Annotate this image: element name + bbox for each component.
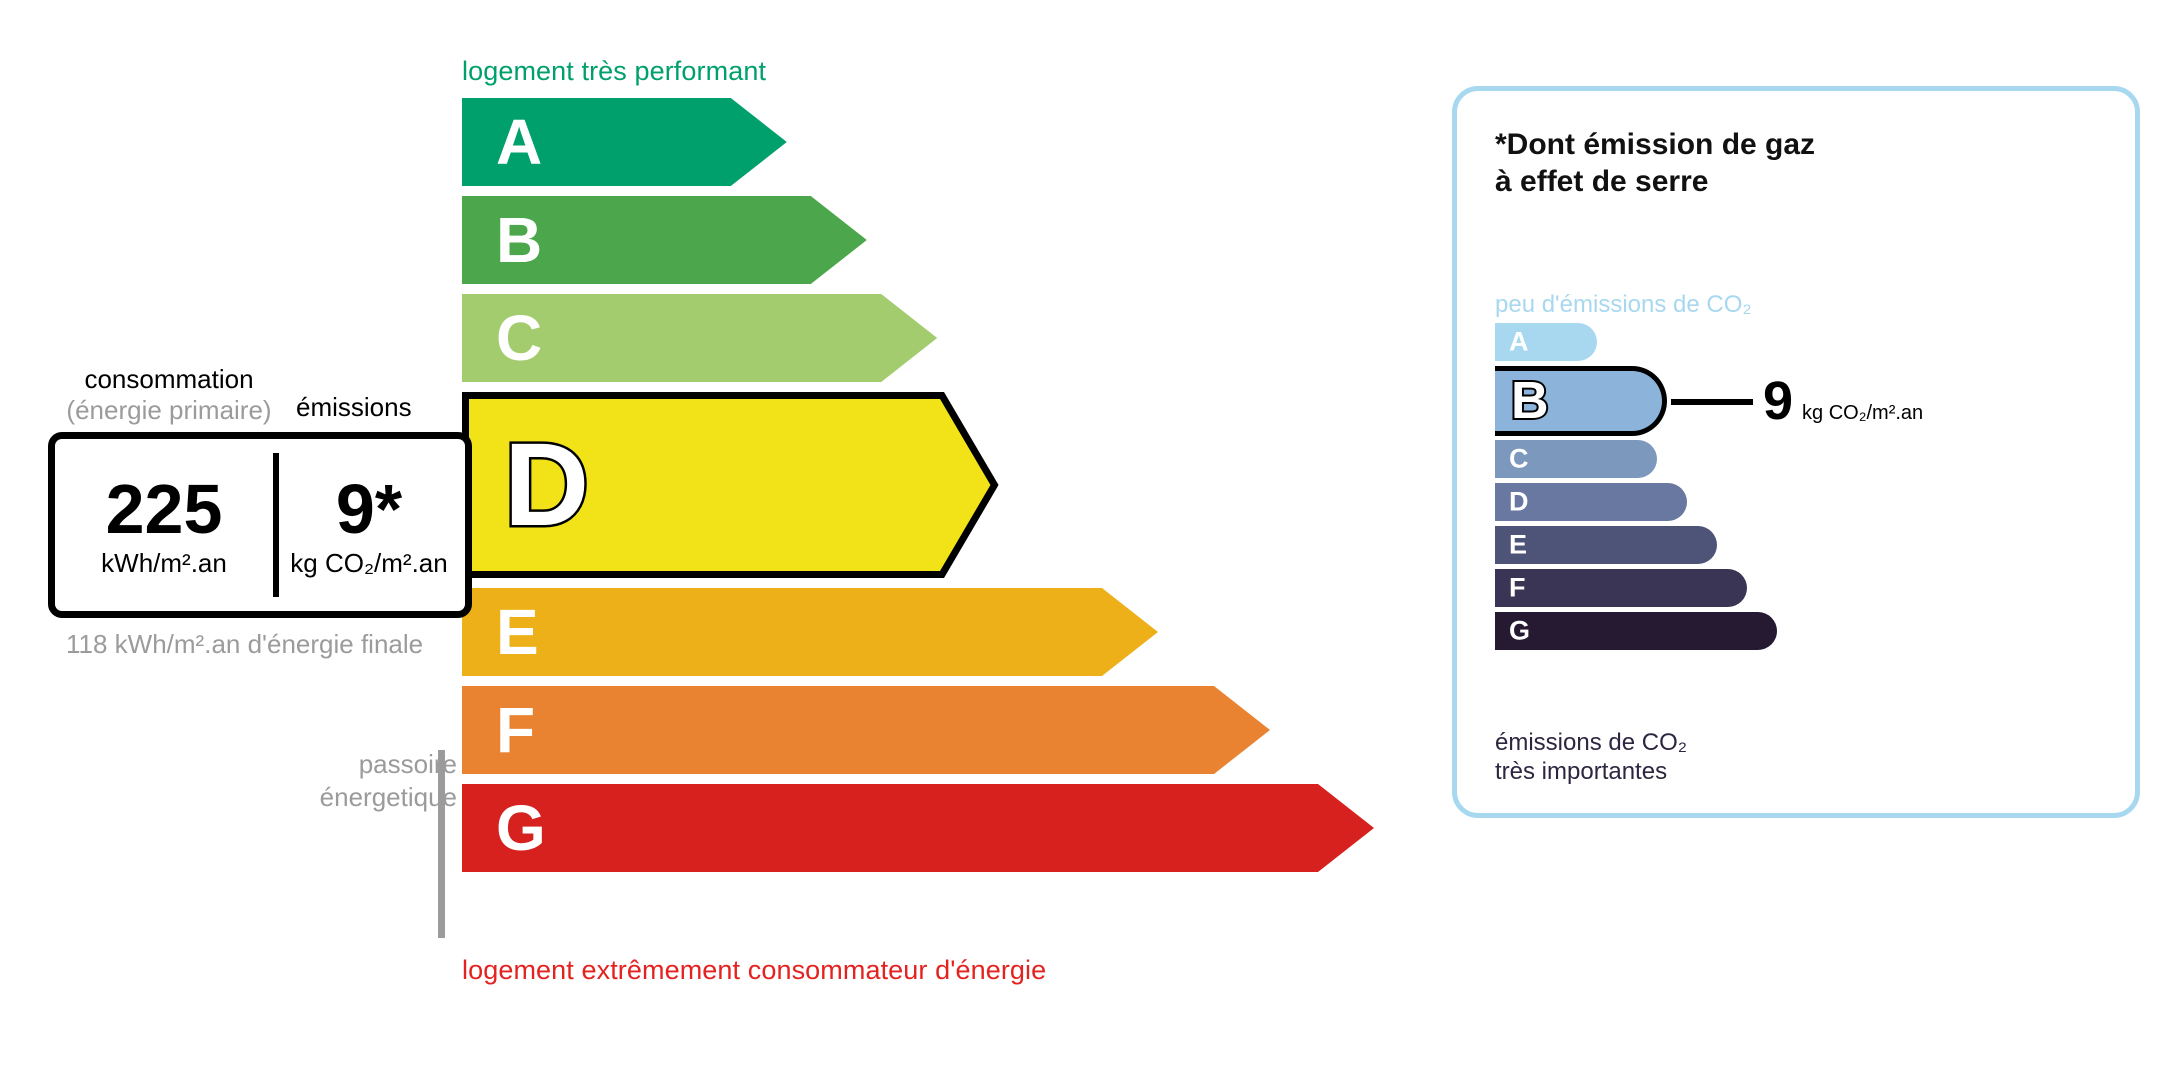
- ges-class-letter-c: C: [1509, 446, 1529, 473]
- energy-class-row-e: E: [462, 588, 1322, 676]
- ges-class-letter-f: F: [1509, 575, 1526, 602]
- ges-class-bar-e: E: [1495, 526, 1717, 564]
- passoire-energetique-label: passoire énergetique: [282, 748, 457, 813]
- ges-class-letter-e: E: [1509, 532, 1527, 559]
- final-energy-label: 118 kWh/m².an d'énergie finale: [66, 628, 423, 661]
- ges-class-row-b: B9kg CO₂/m².an: [1495, 366, 2115, 436]
- energy-class-arrow-c: C: [462, 294, 937, 382]
- ges-top-caption: peu d'émissions de CO₂: [1495, 291, 1752, 319]
- ges-value-callout: 9kg CO₂/m².an: [1763, 374, 1923, 428]
- emission-value: 9*: [336, 474, 402, 544]
- energy-class-arrow-stack: ABCDEFG: [462, 98, 1322, 872]
- energy-class-row-c: C: [462, 294, 1322, 382]
- ges-emissions-panel: *Dont émission de gaz à effet de serre p…: [1452, 86, 2140, 818]
- chart-top-caption: logement très performant: [462, 56, 766, 87]
- energy-class-row-d: D: [462, 392, 1322, 578]
- consumption-header-label: consommation (énergie primaire): [64, 364, 274, 426]
- ges-class-row-c: C: [1495, 440, 2115, 478]
- ges-class-bar-g: G: [1495, 612, 1777, 650]
- energy-class-arrow-a: A: [462, 98, 787, 186]
- ges-class-letter-g: G: [1509, 618, 1530, 645]
- ges-class-row-a: A: [1495, 323, 2115, 361]
- consumption-unit: kWh/m².an: [101, 550, 227, 576]
- ges-value-unit: kg CO₂/m².an: [1802, 402, 1923, 425]
- consumption-cell: 225 kWh/m².an: [55, 439, 273, 611]
- emission-cell: 9* kg CO₂/m².an: [273, 439, 465, 611]
- ges-class-row-f: F: [1495, 569, 2115, 607]
- chart-bottom-caption: logement extrêmement consommateur d'éner…: [462, 955, 1046, 986]
- consumption-value: 225: [106, 474, 223, 544]
- ges-value-number: 9: [1763, 374, 1793, 428]
- energy-class-arrow-g: G: [462, 784, 1374, 872]
- energy-class-arrow-b: B: [462, 196, 867, 284]
- ges-class-row-d: D: [1495, 483, 2115, 521]
- ges-leader-line: [1671, 399, 1753, 405]
- energy-class-arrow-e: E: [462, 588, 1158, 676]
- dpe-screenshot: logement très performant ABCDEFG 225 kWh…: [0, 0, 2170, 1079]
- energy-class-arrow-d: D: [462, 392, 998, 578]
- ges-class-letter-d: D: [1509, 489, 1529, 516]
- emission-unit: kg CO₂/m².an: [290, 550, 447, 576]
- energy-class-arrow-f: F: [462, 686, 1270, 774]
- ges-class-bar-d: D: [1495, 483, 1687, 521]
- energy-class-row-b: B: [462, 196, 1322, 284]
- energy-class-row-f: F: [462, 686, 1322, 774]
- ges-class-bar-c: C: [1495, 440, 1657, 478]
- emissions-header-label: émissions: [296, 392, 412, 423]
- ges-class-row-e: E: [1495, 526, 2115, 564]
- energy-class-row-a: A: [462, 98, 1322, 186]
- energy-consumption-chart: logement très performant ABCDEFG 225 kWh…: [0, 0, 1400, 1079]
- consumption-header-sub: (énergie primaire): [64, 395, 274, 426]
- ges-bottom-caption: émissions de CO₂ très importantes: [1495, 729, 1687, 787]
- ges-class-bar-b: B: [1495, 366, 1667, 436]
- ges-panel-title: *Dont émission de gaz à effet de serre: [1495, 127, 1815, 200]
- ges-class-bar-f: F: [1495, 569, 1747, 607]
- energy-value-box: 225 kWh/m².an 9* kg CO₂/m².an: [48, 432, 472, 618]
- ges-class-bar-stack: AB9kg CO₂/m².anCDEFG: [1495, 323, 2115, 655]
- ges-class-row-g: G: [1495, 612, 2115, 650]
- energy-class-row-g: G: [462, 784, 1322, 872]
- ges-class-letter-a: A: [1509, 329, 1529, 356]
- ges-class-bar-a: A: [1495, 323, 1597, 361]
- consumption-header-main: consommation: [84, 364, 253, 394]
- ges-class-letter-b: B: [1511, 375, 1549, 427]
- passoire-bracket-bar: [438, 750, 445, 938]
